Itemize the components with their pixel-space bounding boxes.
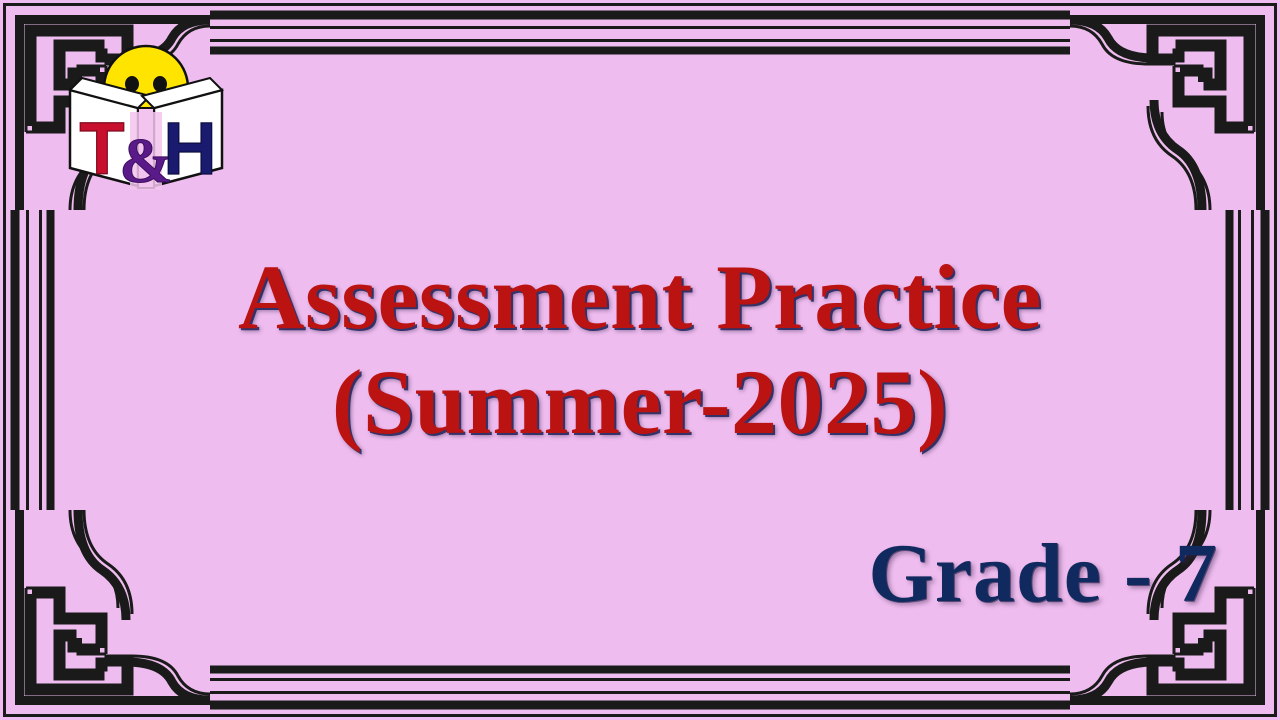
- grade-label: Grade - 7: [868, 528, 1218, 620]
- logo-letter-t: T: [79, 107, 124, 190]
- t-and-h-logo: T & H: [62, 26, 230, 198]
- grade-block: Grade - 7: [868, 528, 1218, 620]
- corner-ornament-bottom-left: [0, 510, 210, 720]
- logo-letter-h: H: [163, 107, 216, 190]
- corner-ornament-top-right: [1070, 0, 1280, 210]
- title-block: Assessment Practice (Summer-2025): [0, 246, 1280, 454]
- page-title-line-1: Assessment Practice: [0, 246, 1280, 349]
- page-title-line-2: (Summer-2025): [0, 351, 1280, 454]
- slide-canvas: T & H Assessment Practice (Summer-2025) …: [0, 0, 1280, 720]
